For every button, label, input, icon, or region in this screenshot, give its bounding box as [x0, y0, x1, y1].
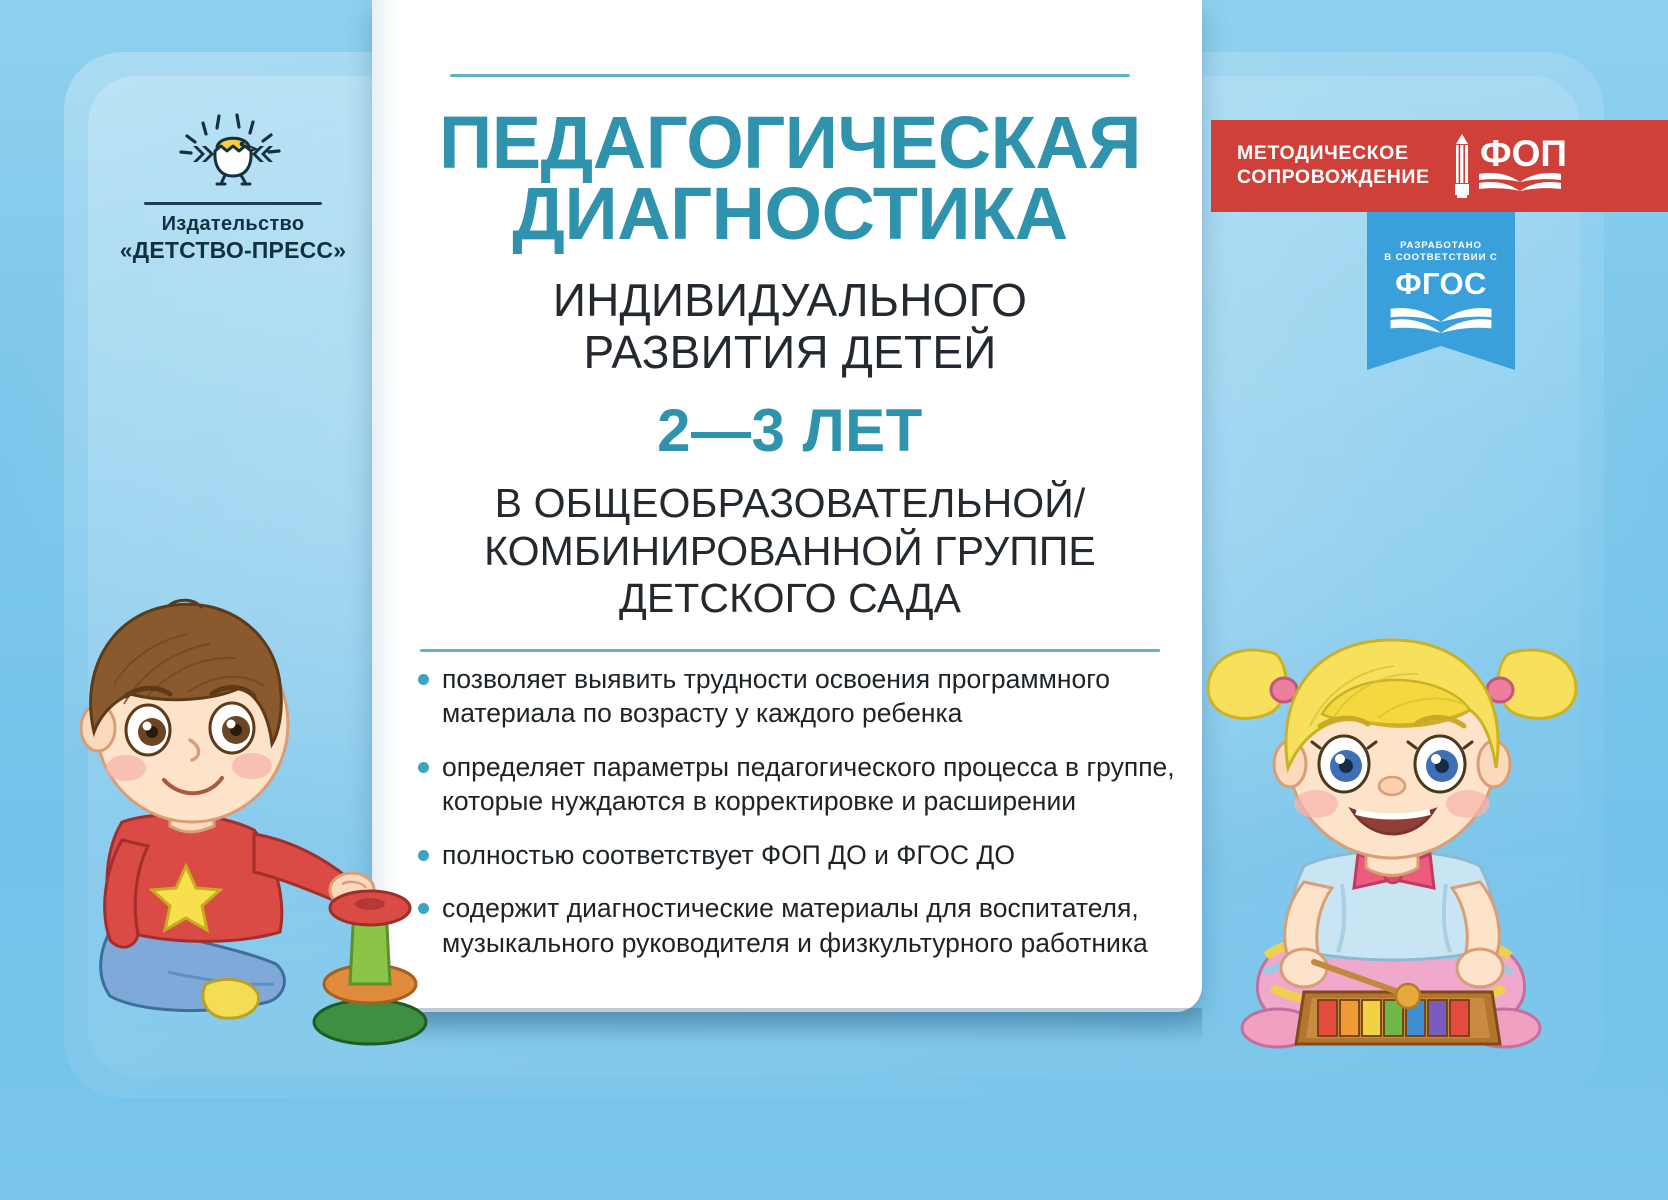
list-item: позволяет выявить трудности освоения про… — [414, 662, 1194, 731]
page-title: ПЕДАГОГИЧЕСКАЯ ДИАГНОСТИКА — [420, 107, 1160, 249]
fgos-small-label: РАЗРАБОТАНО В СООТВЕТСТВИИ С — [1367, 240, 1515, 265]
feature-text: полностью соответствует ФОП ДО и ФГОС ДО — [442, 840, 1015, 870]
subtitle-line-2: РАЗВИТИЯ ДЕТЕЙ — [420, 327, 1160, 379]
publisher-logo: Издательство «ДЕТСТВО-ПРЕСС» — [118, 104, 348, 264]
publisher-divider — [144, 202, 322, 205]
fop-banner-label: МЕТОДИЧЕСКОЕ СОПРОВОЖДЕНИЕ — [1237, 142, 1430, 190]
book-cover: Издательство «ДЕТСТВО-ПРЕСС» МЕТОДИЧЕСКО… — [0, 0, 1668, 1200]
fgos-acronym: ФГОС — [1367, 268, 1515, 299]
fop-badge: МЕТОДИЧЕСКОЕ СОПРОВОЖДЕНИЕ ФОП — [1211, 120, 1668, 212]
feature-text: содержит диагностические материалы для в… — [442, 893, 1148, 957]
subtitle-line-1: ИНДИВИДУАЛЬНОГО — [420, 275, 1160, 327]
feature-text: позволяет выявить трудности освоения про… — [442, 664, 1110, 728]
list-item: определяет параметры педагогического про… — [414, 750, 1194, 819]
feature-text: определяет параметры педагогического про… — [442, 752, 1175, 816]
pencil-icon — [1455, 134, 1469, 198]
svg-text:ФОП: ФОП — [1480, 133, 1567, 174]
title-block: ПЕДАГОГИЧЕСКАЯ ДИАГНОСТИКА ИНДИВИДУАЛЬНО… — [420, 74, 1160, 652]
setting-line-3: ДЕТСКОГО САДА — [420, 575, 1160, 623]
publisher-name-line2: «ДЕТСТВО-ПРЕСС» — [118, 237, 348, 264]
bullet-dot-icon — [418, 674, 429, 685]
list-item: полностью соответствует ФОП ДО и ФГОС ДО — [414, 838, 1194, 872]
title-line-2: ДИАГНОСТИКА — [420, 178, 1160, 249]
open-book-icon — [1385, 301, 1497, 339]
bullet-dot-icon — [418, 850, 429, 861]
card-shadow — [372, 1008, 1202, 1044]
fgos-badge: РАЗРАБОТАНО В СООТВЕТСТВИИ С ФГОС — [1367, 212, 1515, 370]
title-rule-bottom — [420, 649, 1160, 652]
fop-logo: ФОП — [1448, 130, 1598, 202]
list-item: содержит диагностические материалы для в… — [414, 891, 1194, 960]
age-range: 2—3 ЛЕТ — [420, 399, 1160, 462]
hatching-chick-icon — [153, 104, 313, 196]
subtitle: ИНДИВИДУАЛЬНОГО РАЗВИТИЯ ДЕТЕЙ — [420, 275, 1160, 379]
setting-line-1: В ОБЩЕОБРАЗОВАТЕЛЬНОЙ/ — [420, 480, 1160, 528]
feature-list: позволяет выявить трудности освоения про… — [414, 662, 1194, 960]
setting-line-2: КОМБИНИРОВАННОЙ ГРУППЕ — [420, 528, 1160, 576]
title-rule-top — [450, 74, 1130, 77]
bullet-dot-icon — [418, 903, 429, 914]
publisher-name-line1: Издательство — [118, 213, 348, 237]
bullet-dot-icon — [418, 762, 429, 773]
setting-description: В ОБЩЕОБРАЗОВАТЕЛЬНОЙ/ КОМБИНИРОВАННОЙ Г… — [420, 480, 1160, 623]
open-book-icon — [1479, 173, 1561, 191]
